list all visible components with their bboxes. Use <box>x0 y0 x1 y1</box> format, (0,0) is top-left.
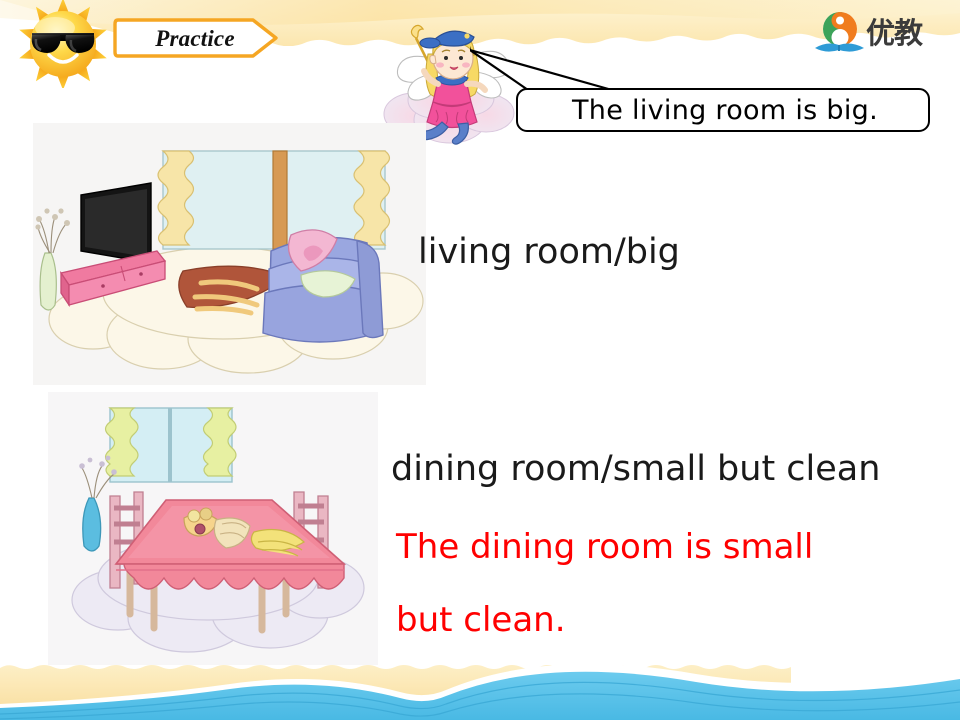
speech-bubble-text: The living room is big. <box>518 90 932 131</box>
brand-logo: 优教 <box>812 8 952 58</box>
dining-room-illustration <box>48 392 378 665</box>
youjiao-logo-icon <box>812 8 868 58</box>
slide-canvas: Practice 优教 <box>0 0 960 720</box>
answer-sentence-line-1: The dining room is small <box>396 527 813 567</box>
speech-bubble: The living room is big. <box>516 88 930 132</box>
brand-name-text: 优教 <box>866 16 922 50</box>
prompt-living-room: living room/big <box>418 232 680 272</box>
sun-with-sunglasses-icon <box>8 0 126 88</box>
answer-sentence-line-2: but clean. <box>396 600 566 640</box>
prompt-dining-room: dining room/small but clean <box>391 449 880 489</box>
bottom-decorative-wave <box>0 640 960 720</box>
living-room-illustration <box>33 123 426 385</box>
practice-section-label: Practice <box>130 25 260 53</box>
